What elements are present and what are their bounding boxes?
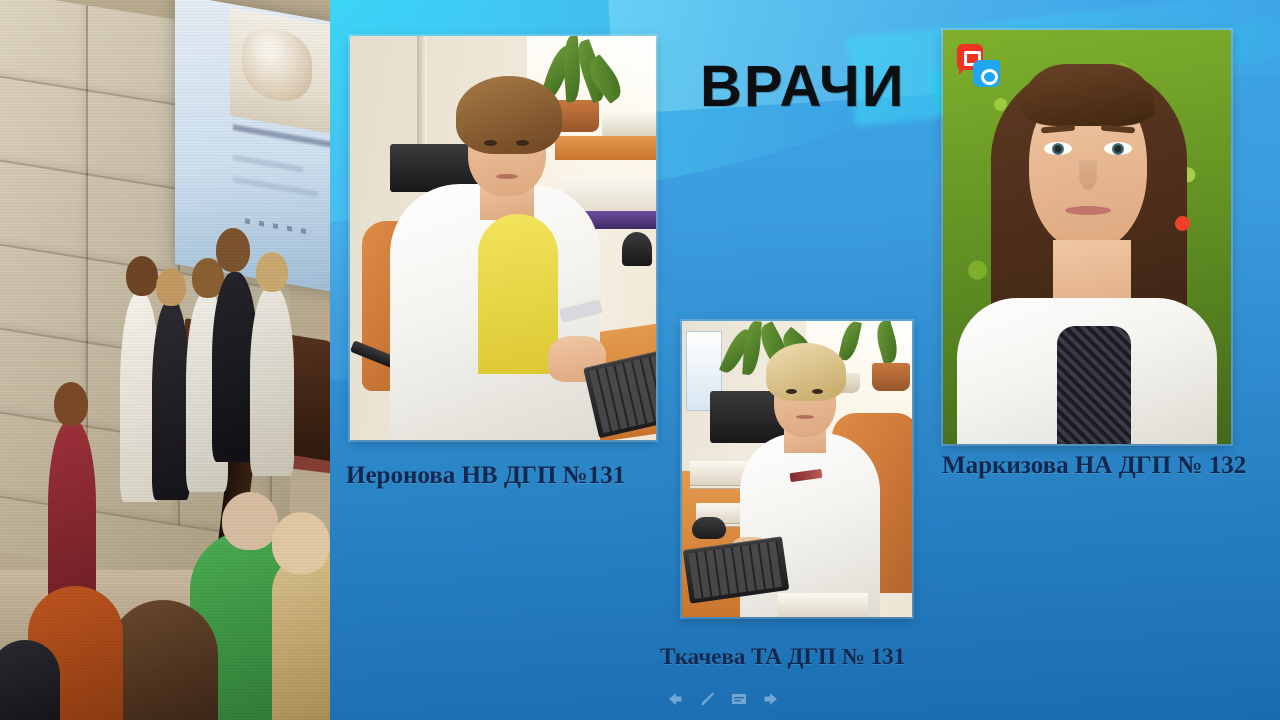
slide-view-icon[interactable] <box>730 690 748 708</box>
photo-markizova[interactable] <box>943 30 1231 444</box>
desk-object <box>622 232 652 266</box>
player-control-bar[interactable] <box>660 684 796 714</box>
projected-photo <box>230 8 330 135</box>
audience-head <box>256 252 288 292</box>
audience-head <box>156 268 186 306</box>
paper-sheet <box>778 593 868 617</box>
audience-head <box>272 512 330 574</box>
office-desk <box>555 136 656 160</box>
presentation-slide[interactable]: ВРАЧИ <box>330 0 1280 720</box>
doctor-iris <box>1052 143 1064 155</box>
audience-head <box>222 492 278 550</box>
doctor-hair <box>766 343 846 401</box>
doctor-eye <box>516 140 529 146</box>
caption-ieronova: Иеронова НВ ДГП №131 <box>346 462 625 490</box>
projected-bullets <box>245 218 315 235</box>
audience-person <box>152 300 190 500</box>
watermark-blue-bubble-icon <box>973 60 1000 87</box>
mouse <box>692 517 726 539</box>
audience-person <box>250 286 294 476</box>
doctor-mouth <box>1065 206 1111 215</box>
blouse-pattern <box>1057 326 1131 444</box>
doctor-eye <box>484 140 497 146</box>
projected-text-line <box>233 176 318 197</box>
audience-head <box>216 228 250 272</box>
caption-markizova: Маркизова НА ДГП № 132 <box>942 452 1246 480</box>
previous-slide-arrow-icon[interactable] <box>666 690 684 708</box>
doctor-mouth <box>796 415 814 419</box>
audience-person <box>0 640 60 720</box>
projection-screen <box>175 0 330 296</box>
projected-text-line <box>233 154 303 172</box>
caption-tkacheva: Ткачева ТА ДГП № 131 <box>660 644 905 670</box>
doctor-eye <box>812 389 823 394</box>
doctor-nose <box>1079 160 1097 190</box>
photo-tkacheva[interactable] <box>682 321 912 617</box>
doctor-iris <box>1112 143 1124 155</box>
screenshot-root: ВРАЧИ <box>0 0 1280 720</box>
earring <box>1175 216 1190 231</box>
next-slide-arrow-icon[interactable] <box>762 690 780 708</box>
doctor-hair <box>456 76 562 154</box>
paper-stack <box>602 112 656 136</box>
doctor-mouth <box>496 174 518 179</box>
plant-pot <box>872 363 910 391</box>
audience-head <box>126 256 158 296</box>
conference-room-video[interactable] <box>0 0 330 720</box>
audience-person <box>48 420 96 610</box>
doctor-hair-fringe <box>1021 64 1155 126</box>
audience-head <box>54 382 88 426</box>
pd-logo-watermark <box>957 44 1001 88</box>
audience-person <box>272 552 330 720</box>
pen-icon[interactable] <box>698 690 716 708</box>
slide-title: ВРАЧИ <box>700 53 905 120</box>
audience-person <box>108 600 218 720</box>
doctor-eye <box>786 389 797 394</box>
doctor-shirt <box>478 214 558 374</box>
photo-ieronova[interactable] <box>350 36 656 440</box>
